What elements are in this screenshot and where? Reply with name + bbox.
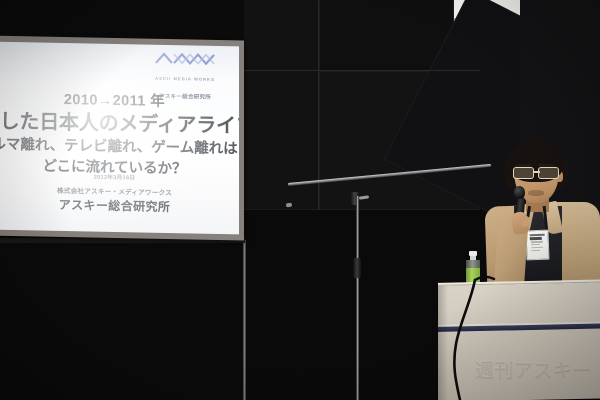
- badge-second-bar: [530, 237, 542, 240]
- slide-subtitle-line1: クルマ離れ、テレビ離れ、ゲーム離れは: [0, 134, 239, 160]
- conference-name-badge: [525, 230, 549, 261]
- badge-text-line: [530, 244, 539, 245]
- slide-content: ASCII MEDIA WORKS アスキー総合研究所 2010→2011 年 …: [0, 42, 239, 235]
- glasses: [511, 167, 563, 180]
- mic-stand-clutch: [353, 258, 361, 278]
- lens-left: [513, 167, 534, 179]
- ascii-media-works-chevron-logo: [154, 51, 216, 67]
- podium-shadow: [438, 286, 448, 400]
- mouth-area: [528, 190, 544, 196]
- panel-seam-horizontal: [244, 70, 480, 71]
- glasses-bridge: [534, 171, 540, 173]
- lens-right: [538, 167, 559, 179]
- backdrop-panel-a: [244, 0, 320, 210]
- slide-surface: ASCII MEDIA WORKS アスキー総合研究所 2010→2011 年 …: [0, 42, 239, 235]
- lectern-podium: [438, 282, 600, 400]
- slide-title-block: 2010→2011 年 激変した日本人のメディアライフ クルマ離れ、テレビ離れ、…: [0, 90, 239, 182]
- badge-text-line: [531, 249, 540, 250]
- watermark: 週刊アスキー: [475, 355, 592, 382]
- bottle-neck: [470, 256, 476, 260]
- handheld-microphone-head: [514, 186, 525, 199]
- projection-screen: ASCII MEDIA WORKS アスキー総合研究所 2010→2011 年 …: [0, 36, 244, 241]
- badge-text-line: [530, 241, 543, 243]
- bottle-label-upper: [466, 260, 480, 268]
- badge-header-bar: [530, 233, 545, 236]
- slide-footer: 2012年3月16日 株式会社アスキー・メディアワークス アスキー総合研究所: [0, 171, 239, 217]
- panel-rail: [243, 240, 246, 400]
- panel-seam-vertical: [318, 0, 319, 210]
- mic-stand-pole: [356, 196, 359, 400]
- speaker: [486, 140, 600, 290]
- logo-english-text: ASCII MEDIA WORKS: [155, 76, 215, 82]
- badge-text-line: [531, 247, 544, 249]
- slide-lab-name: アスキー総合研究所: [0, 195, 239, 217]
- slide-title-main: 激変した日本人のメディアライフ: [0, 109, 239, 139]
- photo-stage: ASCII MEDIA WORKS アスキー総合研究所 2010→2011 年 …: [0, 0, 600, 400]
- bottle-cap: [469, 251, 477, 256]
